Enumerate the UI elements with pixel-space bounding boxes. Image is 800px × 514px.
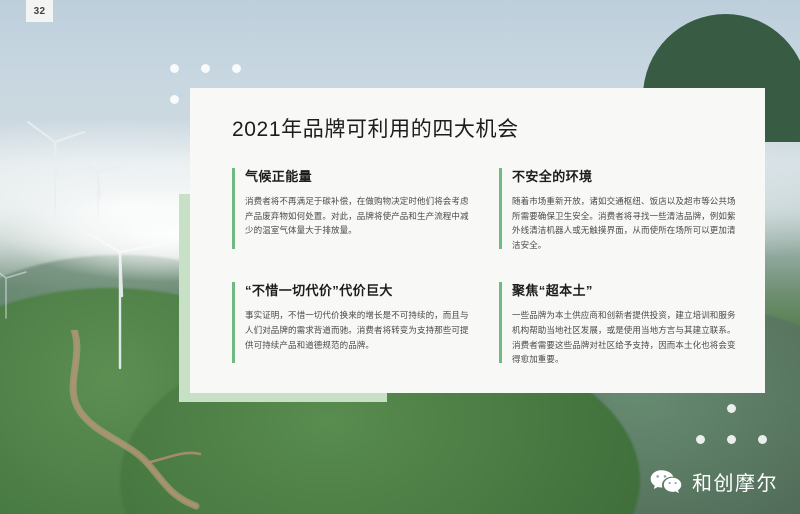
page-title: 2021年品牌可利用的四大机会 — [232, 113, 519, 143]
opportunity-item: 聚焦“超本土” 一些品牌为本土供应商和创新者提供投资，建立培训和服务机构帮助当地… — [499, 280, 737, 366]
page-number: 32 — [34, 6, 46, 17]
accent-bar — [232, 168, 235, 249]
decorative-dot — [170, 95, 179, 104]
slide-root: 32 2021年品牌可利用的四大机会 气候正能量 消费者将不再满足于碳补偿，在做… — [0, 0, 800, 514]
opportunity-item: 不安全的环境 随着市场重新开放，诸如交通枢纽、饭店以及超市等公共场所需要确保卫生… — [499, 166, 737, 252]
decorative-dot — [758, 435, 767, 444]
decorative-dot — [201, 64, 210, 73]
accent-bar — [232, 282, 235, 363]
accent-bar — [499, 168, 502, 249]
decorative-dot — [170, 64, 179, 73]
opportunity-heading: 聚焦“超本土” — [512, 280, 737, 299]
decorative-dot — [727, 404, 736, 413]
decorative-dot — [232, 64, 241, 73]
opportunity-heading: “不惜一切代价”代价巨大 — [245, 280, 470, 299]
decorative-dot — [727, 435, 736, 444]
opportunities-grid: 气候正能量 消费者将不再满足于碳补偿，在做购物决定时他们将会考虑产品废弃物如何处… — [232, 166, 737, 367]
opportunity-heading: 不安全的环境 — [512, 166, 737, 185]
brand-name: 和创摩尔 — [692, 467, 778, 496]
opportunity-body: 事实证明，不惜一切代价换来的增长是不可持续的，而且与人们对品牌的需求背道而驰。消… — [245, 308, 470, 352]
brand-watermark: 和创摩尔 — [649, 467, 778, 496]
accent-bar — [499, 282, 502, 363]
opportunity-item: “不惜一切代价”代价巨大 事实证明，不惜一切代价换来的增长是不可持续的，而且与人… — [232, 280, 470, 366]
opportunity-body: 消费者将不再满足于碳补偿，在做购物决定时他们将会考虑产品废弃物如何处置。对此，品… — [245, 194, 470, 238]
opportunity-item: 气候正能量 消费者将不再满足于碳补偿，在做购物决定时他们将会考虑产品废弃物如何处… — [232, 166, 470, 252]
opportunity-heading: 气候正能量 — [245, 166, 470, 185]
content-card: 2021年品牌可利用的四大机会 气候正能量 消费者将不再满足于碳补偿，在做购物决… — [190, 88, 765, 393]
wechat-icon — [649, 468, 683, 496]
opportunity-body: 随着市场重新开放，诸如交通枢纽、饭店以及超市等公共场所需要确保卫生安全。消费者将… — [512, 194, 737, 252]
decorative-dot — [696, 435, 705, 444]
opportunity-body: 一些品牌为本土供应商和创新者提供投资，建立培训和服务机构帮助当地社区发展，或是使… — [512, 308, 737, 366]
page-number-chip: 32 — [26, 0, 53, 22]
